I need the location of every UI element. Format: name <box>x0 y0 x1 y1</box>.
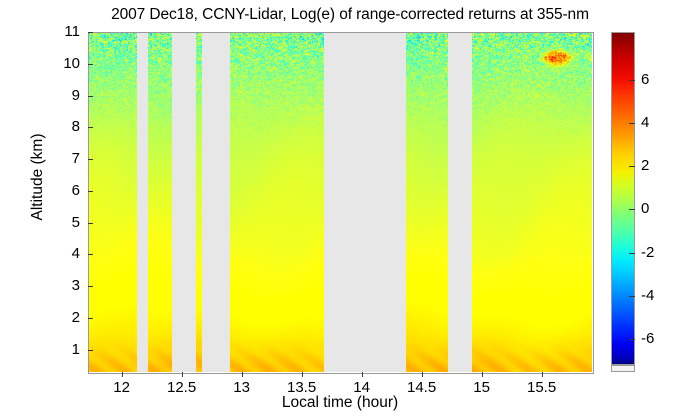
colorbar-tick-label: -6 <box>641 330 654 347</box>
y-axis-tick-mark <box>88 254 93 255</box>
y-axis-tick-label: 11 <box>42 23 80 40</box>
y-axis-tick-mark <box>88 286 93 287</box>
y-axis-tick-mark <box>88 223 93 224</box>
figure-title: 2007 Dec18, CCNY-Lidar, Log(e) of range-… <box>0 6 700 24</box>
heatmap-data-column <box>472 32 592 372</box>
y-axis-tick-label: 6 <box>42 182 80 199</box>
colorbar-tick-label: -4 <box>641 287 654 304</box>
y-axis-tick-label: 1 <box>42 341 80 358</box>
nodata-gap-column <box>172 32 196 372</box>
colorbar-tick-mark <box>629 296 635 297</box>
x-axis-tick-label: 15.5 <box>507 379 577 396</box>
nodata-gap-column <box>137 32 148 372</box>
y-axis-tick-mark <box>88 64 93 65</box>
y-axis-tick-mark <box>88 191 93 192</box>
x-axis-tick-mark <box>482 372 483 377</box>
lidar-figure: 2007 Dec18, CCNY-Lidar, Log(e) of range-… <box>0 0 700 420</box>
x-axis-title: Local time (hour) <box>88 394 592 412</box>
colorbar-tick-mark <box>629 123 635 124</box>
heatmap-data-column <box>230 32 324 372</box>
y-axis-tick-label: 8 <box>42 118 80 135</box>
x-axis-tick-mark <box>422 372 423 377</box>
y-axis-tick-mark <box>88 318 93 319</box>
x-axis-tick-mark <box>542 372 543 377</box>
colorbar-tick-label: 6 <box>641 71 649 88</box>
colorbar-tick-mark <box>629 80 635 81</box>
x-axis-tick-mark <box>182 372 183 377</box>
colorbar-tick-label: -2 <box>641 244 654 261</box>
colorbar-tick-label: 2 <box>641 157 649 174</box>
x-axis-tick-mark <box>122 372 123 377</box>
y-axis-tick-label: 9 <box>42 87 80 104</box>
colorbar-tick-label: 4 <box>641 114 649 131</box>
colorbar-tick-mark <box>629 166 635 167</box>
y-axis-tick-label: 4 <box>42 245 80 262</box>
y-axis-tick-mark <box>88 159 93 160</box>
y-axis-tick-label: 3 <box>42 277 80 294</box>
x-axis-tick-mark <box>242 372 243 377</box>
y-axis-tick-mark <box>88 96 93 97</box>
y-axis-tick-label: 2 <box>42 309 80 326</box>
heatmap-plot-area <box>88 32 592 372</box>
heatmap-data-column <box>88 32 137 372</box>
heatmap-data-column <box>406 32 448 372</box>
colorbar: 6420-2-4-6 <box>611 32 635 372</box>
nodata-gap-column <box>448 32 472 372</box>
y-axis-tick-label: 5 <box>42 214 80 231</box>
heatmap-data-column <box>148 32 172 372</box>
y-axis-tick-mark <box>88 32 93 33</box>
colorbar-underflow-swatch <box>611 365 635 372</box>
y-axis-tick-mark <box>88 350 93 351</box>
x-axis-tick-mark <box>362 372 363 377</box>
nodata-gap-column <box>324 32 406 372</box>
colorbar-gradient <box>611 32 635 365</box>
y-axis-tick-label: 7 <box>42 150 80 167</box>
x-axis-tick-mark <box>302 372 303 377</box>
y-axis-tick-mark <box>88 127 93 128</box>
colorbar-tick-mark <box>629 253 635 254</box>
colorbar-tick-mark <box>629 209 635 210</box>
colorbar-tick-label: 0 <box>641 200 649 217</box>
nodata-gap-column <box>202 32 230 372</box>
y-axis-tick-label: 10 <box>42 55 80 72</box>
colorbar-tick-mark <box>629 339 635 340</box>
